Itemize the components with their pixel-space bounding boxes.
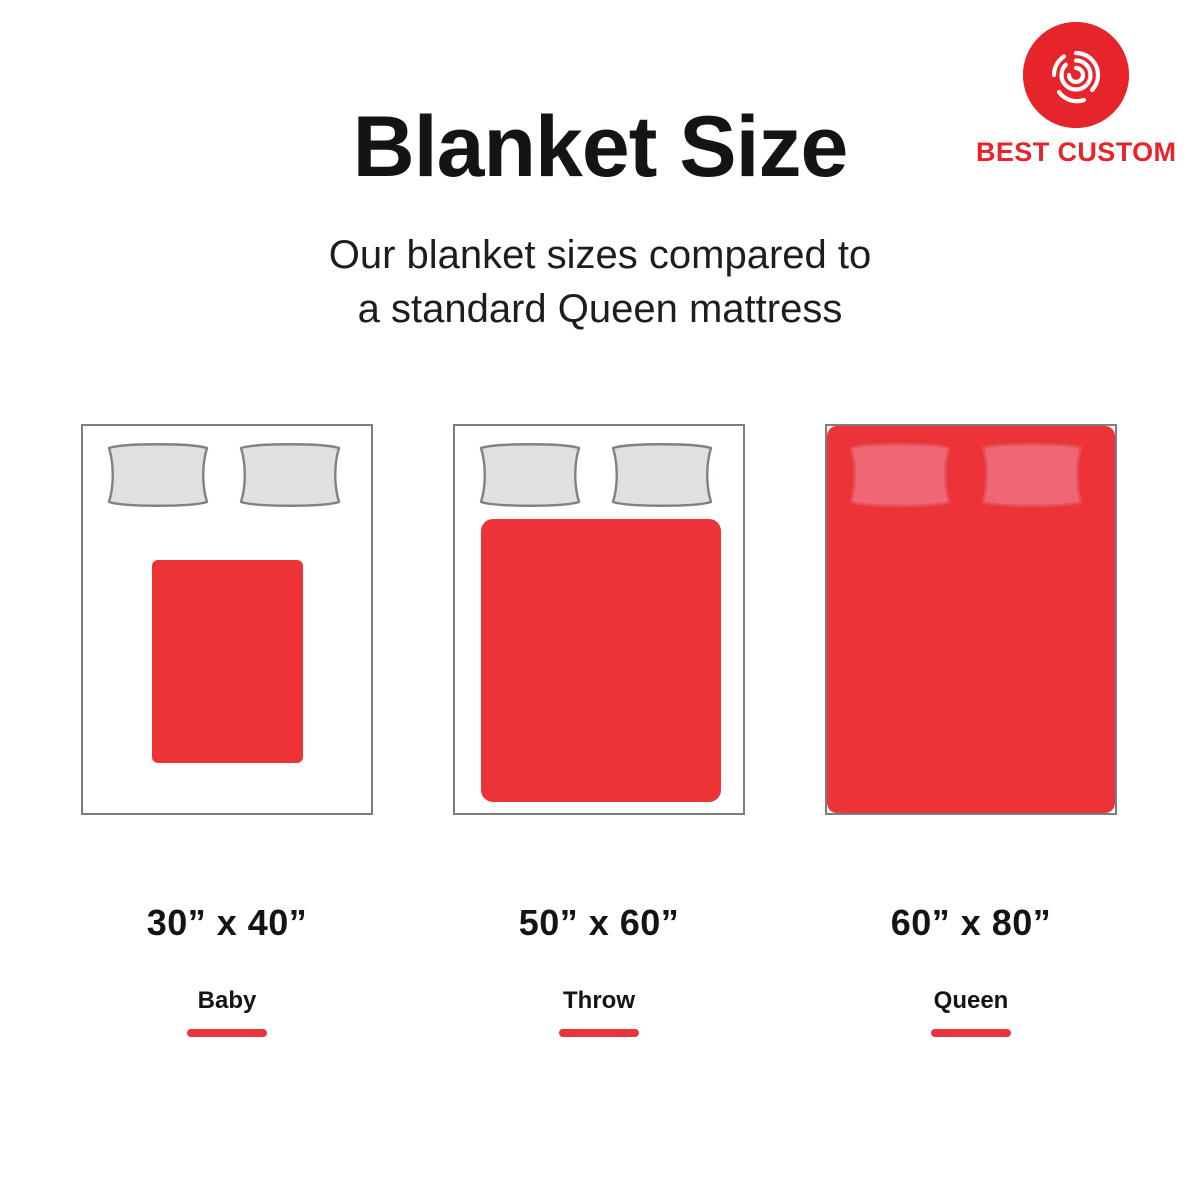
page-subtitle: Our blanket sizes compared to a standard… bbox=[0, 228, 1200, 336]
caption-baby: 30” x 40” Baby bbox=[81, 902, 373, 1037]
pillow-icon bbox=[977, 440, 1087, 510]
pillow-row bbox=[827, 440, 1115, 512]
pillow-icon bbox=[607, 440, 717, 510]
accent-underline bbox=[559, 1029, 639, 1037]
caption-queen: 60” x 80” Queen bbox=[825, 902, 1117, 1037]
infographic-canvas: BEST CUSTOM Blanket Size Our blanket siz… bbox=[0, 0, 1200, 1200]
bed-diagram-queen bbox=[825, 424, 1117, 815]
blanket-shape-queen bbox=[827, 426, 1115, 813]
accent-underline bbox=[931, 1029, 1011, 1037]
pillow-icon bbox=[475, 440, 585, 510]
subtitle-line-2: a standard Queen mattress bbox=[0, 282, 1200, 336]
size-name-label: Baby bbox=[81, 987, 373, 1015]
size-name-label: Throw bbox=[453, 987, 745, 1015]
pillow-row bbox=[455, 440, 747, 512]
size-name-label: Queen bbox=[825, 987, 1117, 1015]
pillow-icon bbox=[845, 440, 955, 510]
blanket-shape-throw bbox=[481, 519, 721, 802]
blanket-shape-baby bbox=[152, 560, 303, 763]
bed-diagram-baby bbox=[81, 424, 373, 815]
page-title: Blanket Size bbox=[0, 104, 1200, 190]
bed-diagram-throw bbox=[453, 424, 745, 815]
dimensions-label: 50” x 60” bbox=[453, 902, 745, 944]
dimensions-label: 30” x 40” bbox=[81, 902, 373, 944]
pillow-row bbox=[83, 440, 375, 512]
accent-underline bbox=[187, 1029, 267, 1037]
pillow-icon bbox=[235, 440, 345, 510]
caption-throw: 50” x 60” Throw bbox=[453, 902, 745, 1037]
subtitle-line-1: Our blanket sizes compared to bbox=[0, 228, 1200, 282]
dimensions-label: 60” x 80” bbox=[825, 902, 1117, 944]
pillow-icon bbox=[103, 440, 213, 510]
